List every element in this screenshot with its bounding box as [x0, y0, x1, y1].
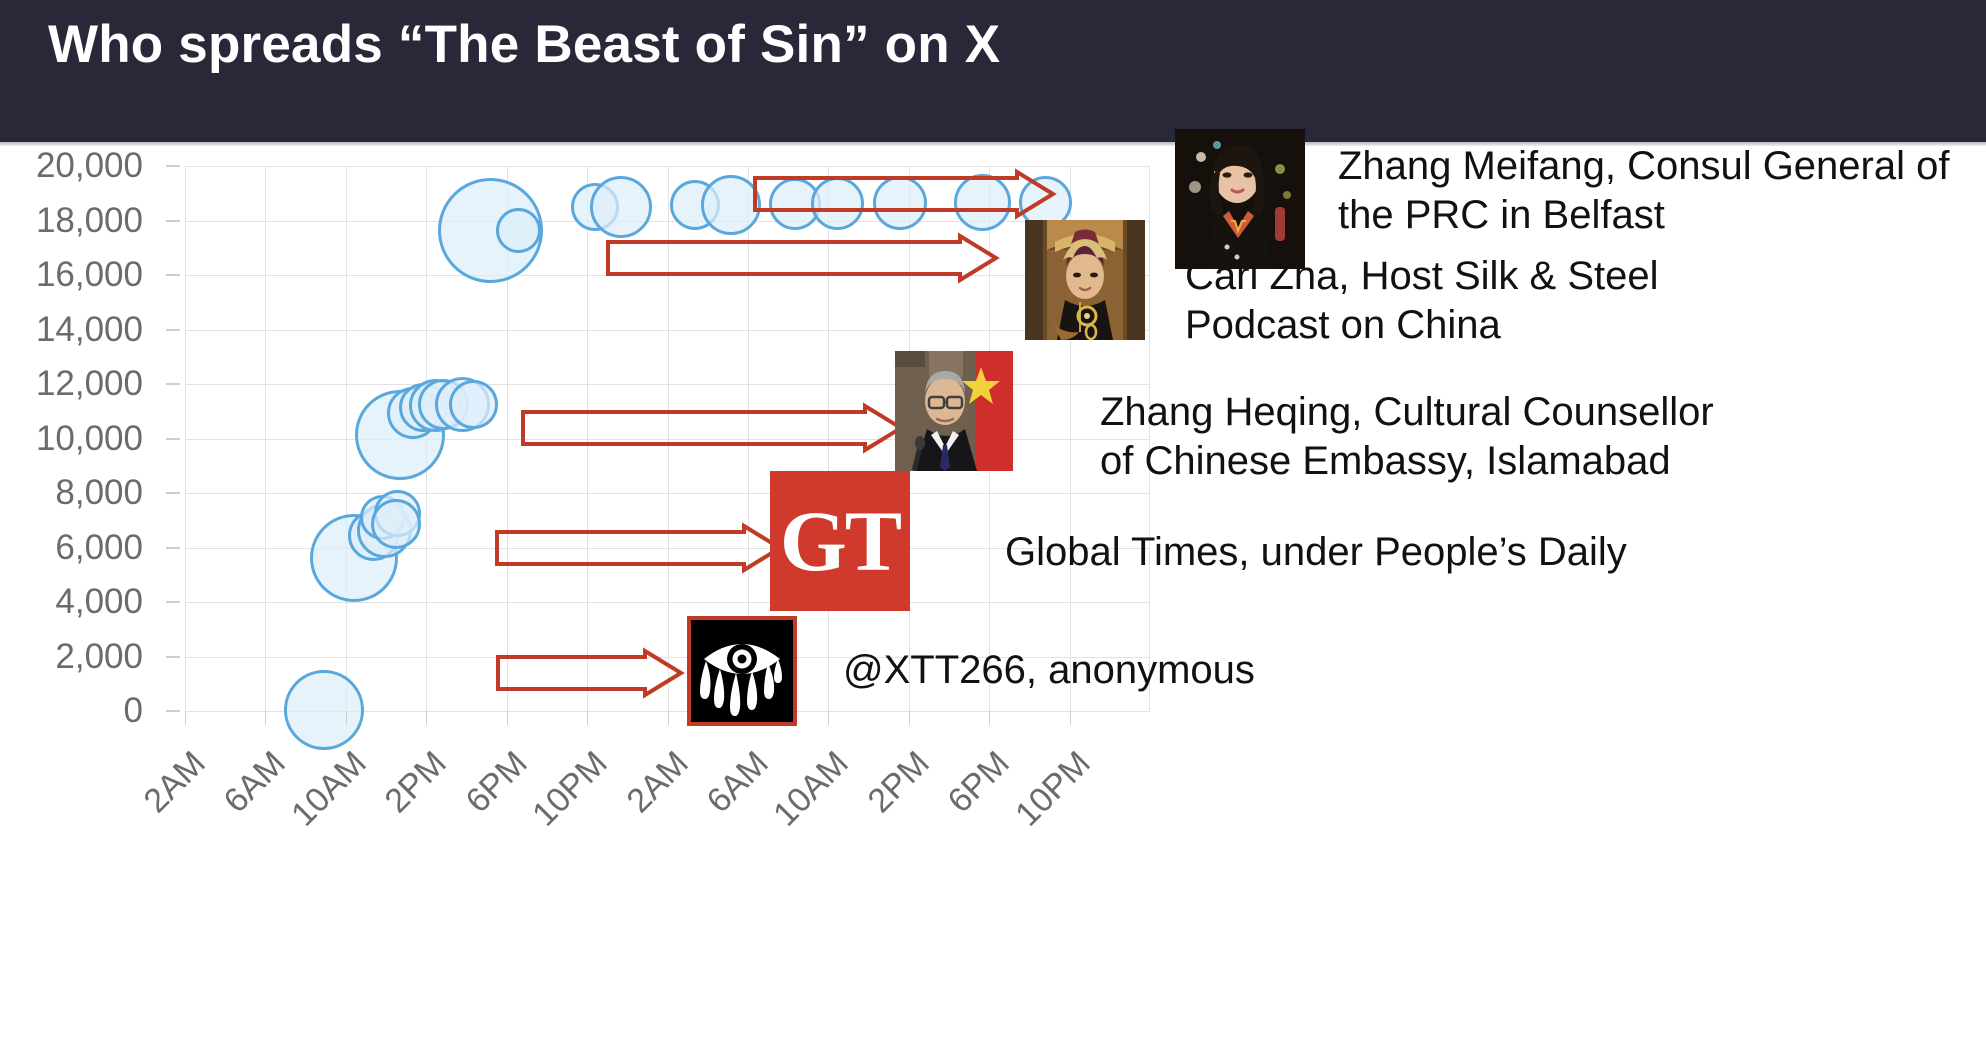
y-axis-label: 4,000 — [55, 582, 143, 622]
logo-global-times: GT — [770, 471, 910, 611]
caption-xtt266: @XTT266, anonymous — [843, 646, 1443, 695]
y-axis-label: 12,000 — [36, 364, 143, 404]
caption-line: Podcast on China — [1185, 301, 1825, 350]
y-axis-label: 0 — [124, 691, 143, 731]
caption-line: Zhang Meifang, Consul General of — [1338, 142, 1978, 191]
avatar-zhang-meifang — [1175, 129, 1305, 269]
caption-line: Carl Zha, Host Silk & Steel — [1185, 252, 1825, 301]
page-title: Who spreads “The Beast of Sin” on X — [48, 14, 1000, 75]
caption-line: Global Times, under People’s Daily — [1005, 528, 1705, 577]
bubble-point — [449, 380, 498, 429]
bubble-point — [496, 208, 541, 253]
crying-eye-icon — [696, 625, 788, 717]
caption-line: @XTT266, anonymous — [843, 646, 1443, 695]
callout-arrow-zhang-meifang — [755, 172, 1055, 222]
y-axis-label: 8,000 — [55, 473, 143, 513]
caption-global-times: Global Times, under People’s Daily — [1005, 528, 1705, 577]
y-axis-label: 10,000 — [36, 419, 143, 459]
avatar-carl-zha — [1025, 220, 1145, 340]
callout-arrow-zhang-heqing — [523, 406, 903, 456]
y-axis-label: 14,000 — [36, 310, 143, 350]
caption-line: the PRC in Belfast — [1338, 191, 1978, 240]
avatar-zhang-heqing — [895, 351, 1013, 471]
y-axis-label: 18,000 — [36, 201, 143, 241]
caption-carl-zha: Carl Zha, Host Silk & Steel Podcast on C… — [1185, 252, 1825, 350]
caption-line: Zhang Heqing, Cultural Counsellor — [1100, 388, 1760, 437]
callout-arrow-carl-zha — [608, 236, 998, 286]
caption-zhang-heqing: Zhang Heqing, Cultural Counsellor of Chi… — [1100, 388, 1760, 486]
y-axis-label: 6,000 — [55, 528, 143, 568]
avatar-xtt266 — [687, 616, 797, 726]
caption-line: of Chinese Embassy, Islamabad — [1100, 437, 1760, 486]
logo-text: GT — [780, 491, 900, 591]
bubble-point — [284, 670, 364, 750]
bubble-point — [590, 176, 652, 238]
y-axis-label: 2,000 — [55, 637, 143, 677]
bubble-point — [701, 175, 761, 235]
y-axis-label: 20,000 — [36, 146, 143, 186]
title-bar: Who spreads “The Beast of Sin” on X — [0, 0, 1986, 142]
callout-arrow-xtt266 — [498, 651, 683, 701]
bubble-point — [371, 499, 421, 549]
callout-arrow-global-times — [497, 526, 782, 576]
bubble-chart: 20,000 18,000 16,000 14,000 12,000 10,00… — [0, 146, 1986, 1052]
y-axis-label: 16,000 — [36, 255, 143, 295]
caption-zhang-meifang: Zhang Meifang, Consul General of the PRC… — [1338, 142, 1978, 240]
